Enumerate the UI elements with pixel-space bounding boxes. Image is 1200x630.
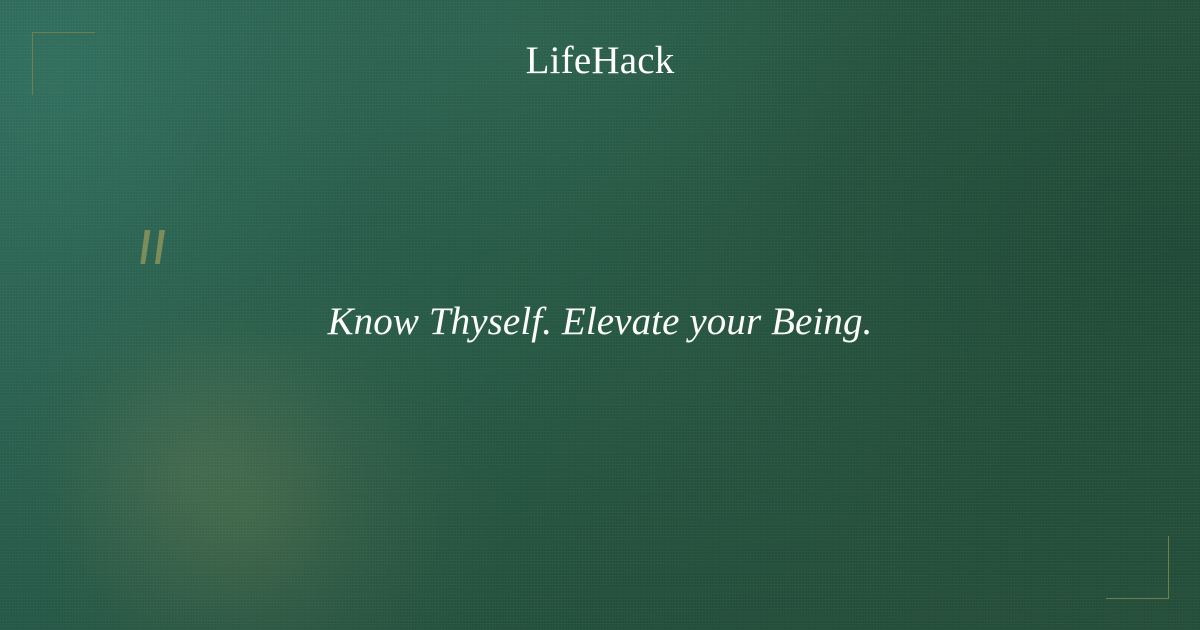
quote-card: LifeHack Know Thyself. Elevate your Bein…	[0, 0, 1200, 630]
quote-text: Know Thyself. Elevate your Being.	[0, 298, 1200, 346]
quote-mark-icon	[131, 222, 177, 272]
brand-logo: LifeHack	[0, 38, 1200, 84]
corner-bracket-bottom-right-icon	[1106, 536, 1169, 599]
